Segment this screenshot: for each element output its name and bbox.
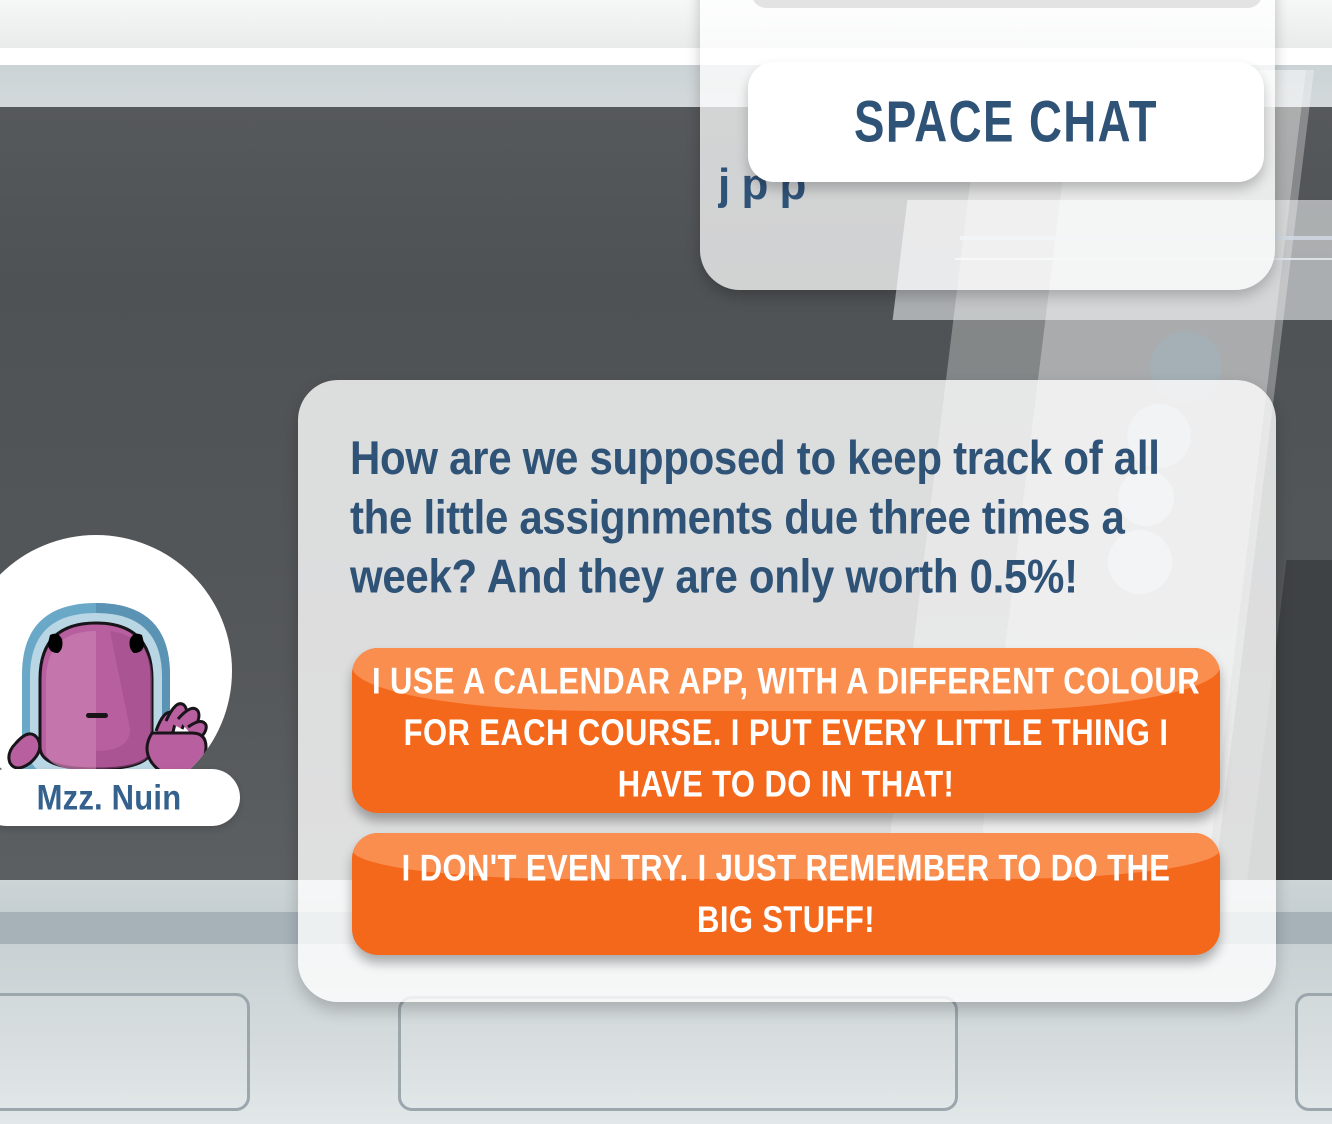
answer-option-1-label: I USE A CALENDAR APP, WITH A DIFFERENT C… [352, 648, 1220, 810]
space-chat-screen: j p p SPACE CHAT How are we supposed to … [0, 0, 1332, 1124]
answer-option-2-label: I DON'T EVEN TRY. I JUST REMEMBER TO DO … [352, 833, 1220, 945]
character-name-badge: Mzz. Nuin [0, 769, 240, 826]
question-text: How are we supposed to keep track of all… [350, 428, 1180, 606]
character-name: Mzz. Nuin [37, 777, 182, 818]
answer-option-2-button[interactable]: I DON'T EVEN TRY. I JUST REMEMBER TO DO … [352, 833, 1220, 955]
answer-option-1-button[interactable]: I USE A CALENDAR APP, WITH A DIFFERENT C… [352, 648, 1220, 813]
background-panel-right [1295, 993, 1332, 1111]
app-title-pill: SPACE CHAT [748, 62, 1264, 182]
avatar [0, 535, 232, 807]
page-title: SPACE CHAT [854, 88, 1158, 155]
background-panel-left [0, 993, 250, 1111]
alien-astronaut-avatar-icon [0, 535, 232, 807]
background-panel-center [398, 996, 958, 1111]
